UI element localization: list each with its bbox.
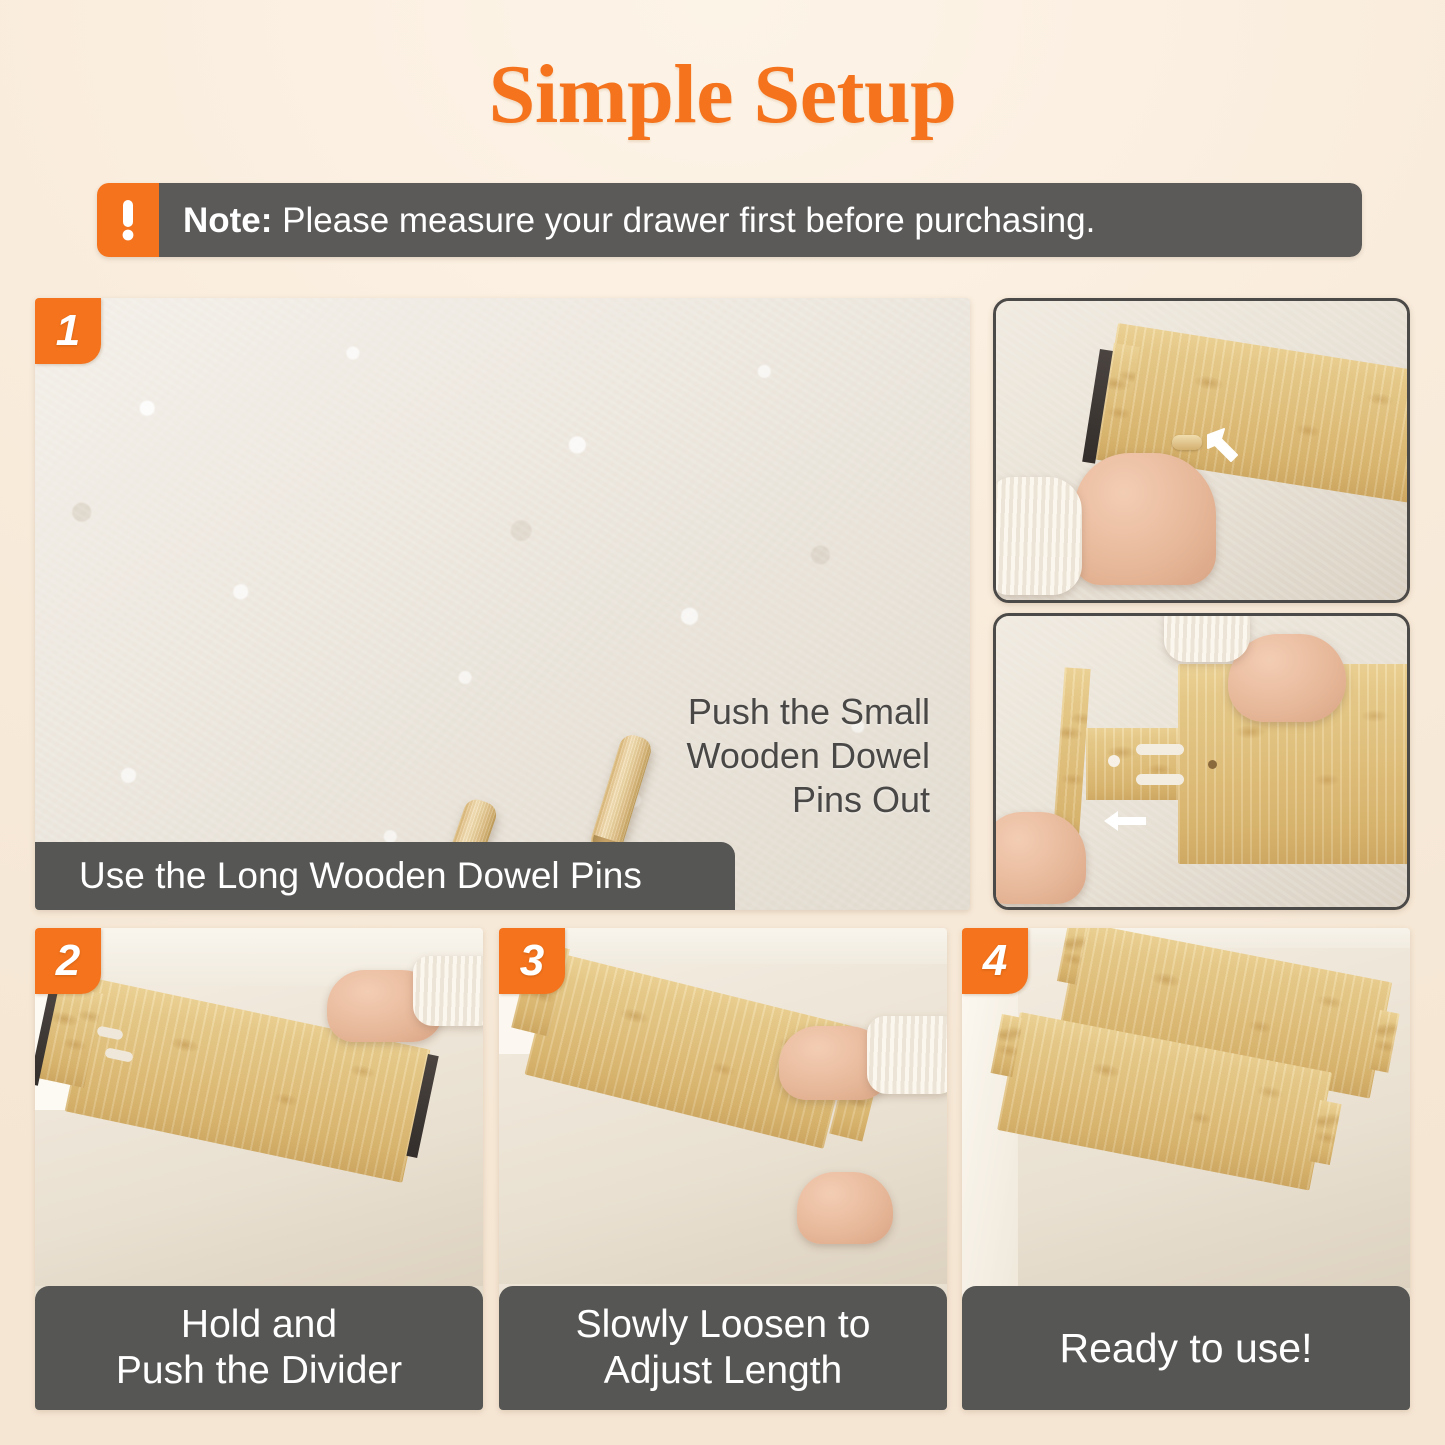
hand [993,812,1086,904]
step-3-panel: 3 Slowly Loosen to Adjust Length [499,928,947,1410]
step-1-caption-text: Use the Long Wooden Dowel Pins [79,854,642,898]
sweater-sleeve [413,956,483,1026]
instruction-line: Push the Small [687,690,930,734]
step-number-3: 3 [520,939,544,983]
caption-line: Ready to use! [1060,1324,1313,1372]
step-2-caption: Hold and Push the Divider [35,1286,483,1410]
step-number-badge-4: 4 [962,928,1028,994]
caption-line: Hold and [116,1302,402,1348]
step-3-caption: Slowly Loosen to Adjust Length [499,1286,947,1410]
note-text: Note: Please measure your drawer first b… [183,203,1095,238]
step-1-caption: Use the Long Wooden Dowel Pins [35,842,735,910]
arrow-left-icon [1102,808,1148,834]
hand [797,1172,893,1244]
step-3-caption-text: Slowly Loosen to Adjust Length [576,1302,871,1394]
step-2-panel: 2 Hold and Push the Divider [35,928,483,1410]
note-banner: Note: Please measure your drawer first b… [97,183,1362,257]
step-number-4: 4 [983,939,1007,983]
step-number-1: 1 [56,309,80,353]
inset-pull-dowel-pin [993,298,1410,603]
product-instruction-graphic: Simple Setup Note: Please measure your d… [0,0,1445,1445]
instruction-line: Wooden Dowel [687,734,930,778]
step-1-panel: 1 Push the Small Wooden Dowel Pins Out *… [35,298,970,910]
caption-line: Push the Divider [116,1348,402,1394]
rail-hole [1108,755,1120,767]
instruction-line: Pins Out [687,778,930,822]
hand [1074,453,1216,585]
rail-slot [1136,744,1184,755]
sweater-sleeve [867,1016,947,1094]
exclamation-icon [97,183,159,257]
note-message: Please measure your drawer first before … [272,201,1095,240]
caption-line: Slowly Loosen to [576,1302,871,1348]
inset-slide-divider [993,613,1410,910]
rail-slot [1136,774,1184,785]
sweater-sleeve [993,477,1082,595]
arrow-up-left-icon [1204,427,1246,467]
sweater-sleeve [1164,613,1250,662]
step-number-badge-3: 3 [499,928,565,994]
dowel-pin-in-hole [1172,435,1202,450]
caption-line: Adjust Length [576,1348,871,1394]
page-title: Simple Setup [0,46,1445,143]
step-number-badge-2: 2 [35,928,101,994]
step-2-caption-text: Hold and Push the Divider [116,1302,402,1394]
step-4-caption: Ready to use! [962,1286,1410,1410]
step-4-panel: 4 Ready to use! [962,928,1410,1410]
board-hole [1208,760,1217,769]
step-number-2: 2 [56,939,80,983]
step-4-caption-text: Ready to use! [1060,1324,1313,1372]
note-banner-body: Note: Please measure your drawer first b… [159,183,1362,257]
note-label: Note: [183,201,272,240]
step-1-instruction: Push the Small Wooden Dowel Pins Out [687,690,930,822]
step-number-badge-1: 1 [35,298,101,364]
